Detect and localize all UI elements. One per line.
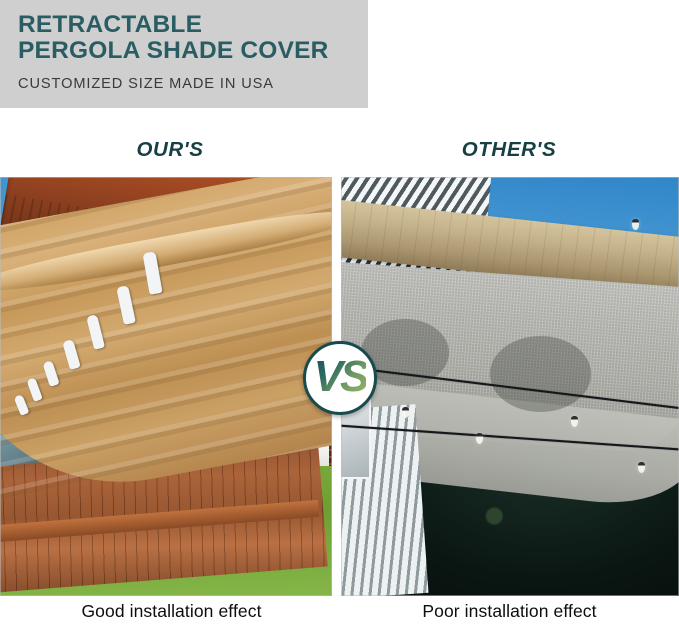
product-comparison-infographic: RETRACTABLE PERGOLA SHADE COVER CUSTOMIZ… <box>0 0 679 635</box>
vs-label: VS <box>314 355 367 399</box>
light-bulb <box>632 219 639 230</box>
photo-ours <box>0 177 332 596</box>
light-bulb <box>476 433 483 444</box>
light-bulb <box>571 416 578 427</box>
header-banner: RETRACTABLE PERGOLA SHADE COVER CUSTOMIZ… <box>0 0 368 108</box>
heading-others: OTHER'S <box>339 138 679 162</box>
photo-captions: Good installation effect Poor installati… <box>0 598 679 635</box>
mesh-sag-shadow <box>490 336 591 411</box>
banner-subtitle: CUSTOMIZED SIZE MADE IN USA <box>18 75 368 93</box>
photo-others <box>341 177 679 596</box>
banner-title: RETRACTABLE PERGOLA SHADE COVER <box>18 12 368 64</box>
photo-ours-scene <box>0 177 332 596</box>
heading-ours: OUR'S <box>0 138 340 162</box>
comparison-headings: OUR'S OTHER'S <box>0 138 679 174</box>
vs-badge: VS <box>303 341 377 415</box>
photo-others-scene <box>341 177 679 596</box>
caption-poor: Poor installation effect <box>340 601 679 622</box>
caption-good: Good installation effect <box>2 601 341 622</box>
